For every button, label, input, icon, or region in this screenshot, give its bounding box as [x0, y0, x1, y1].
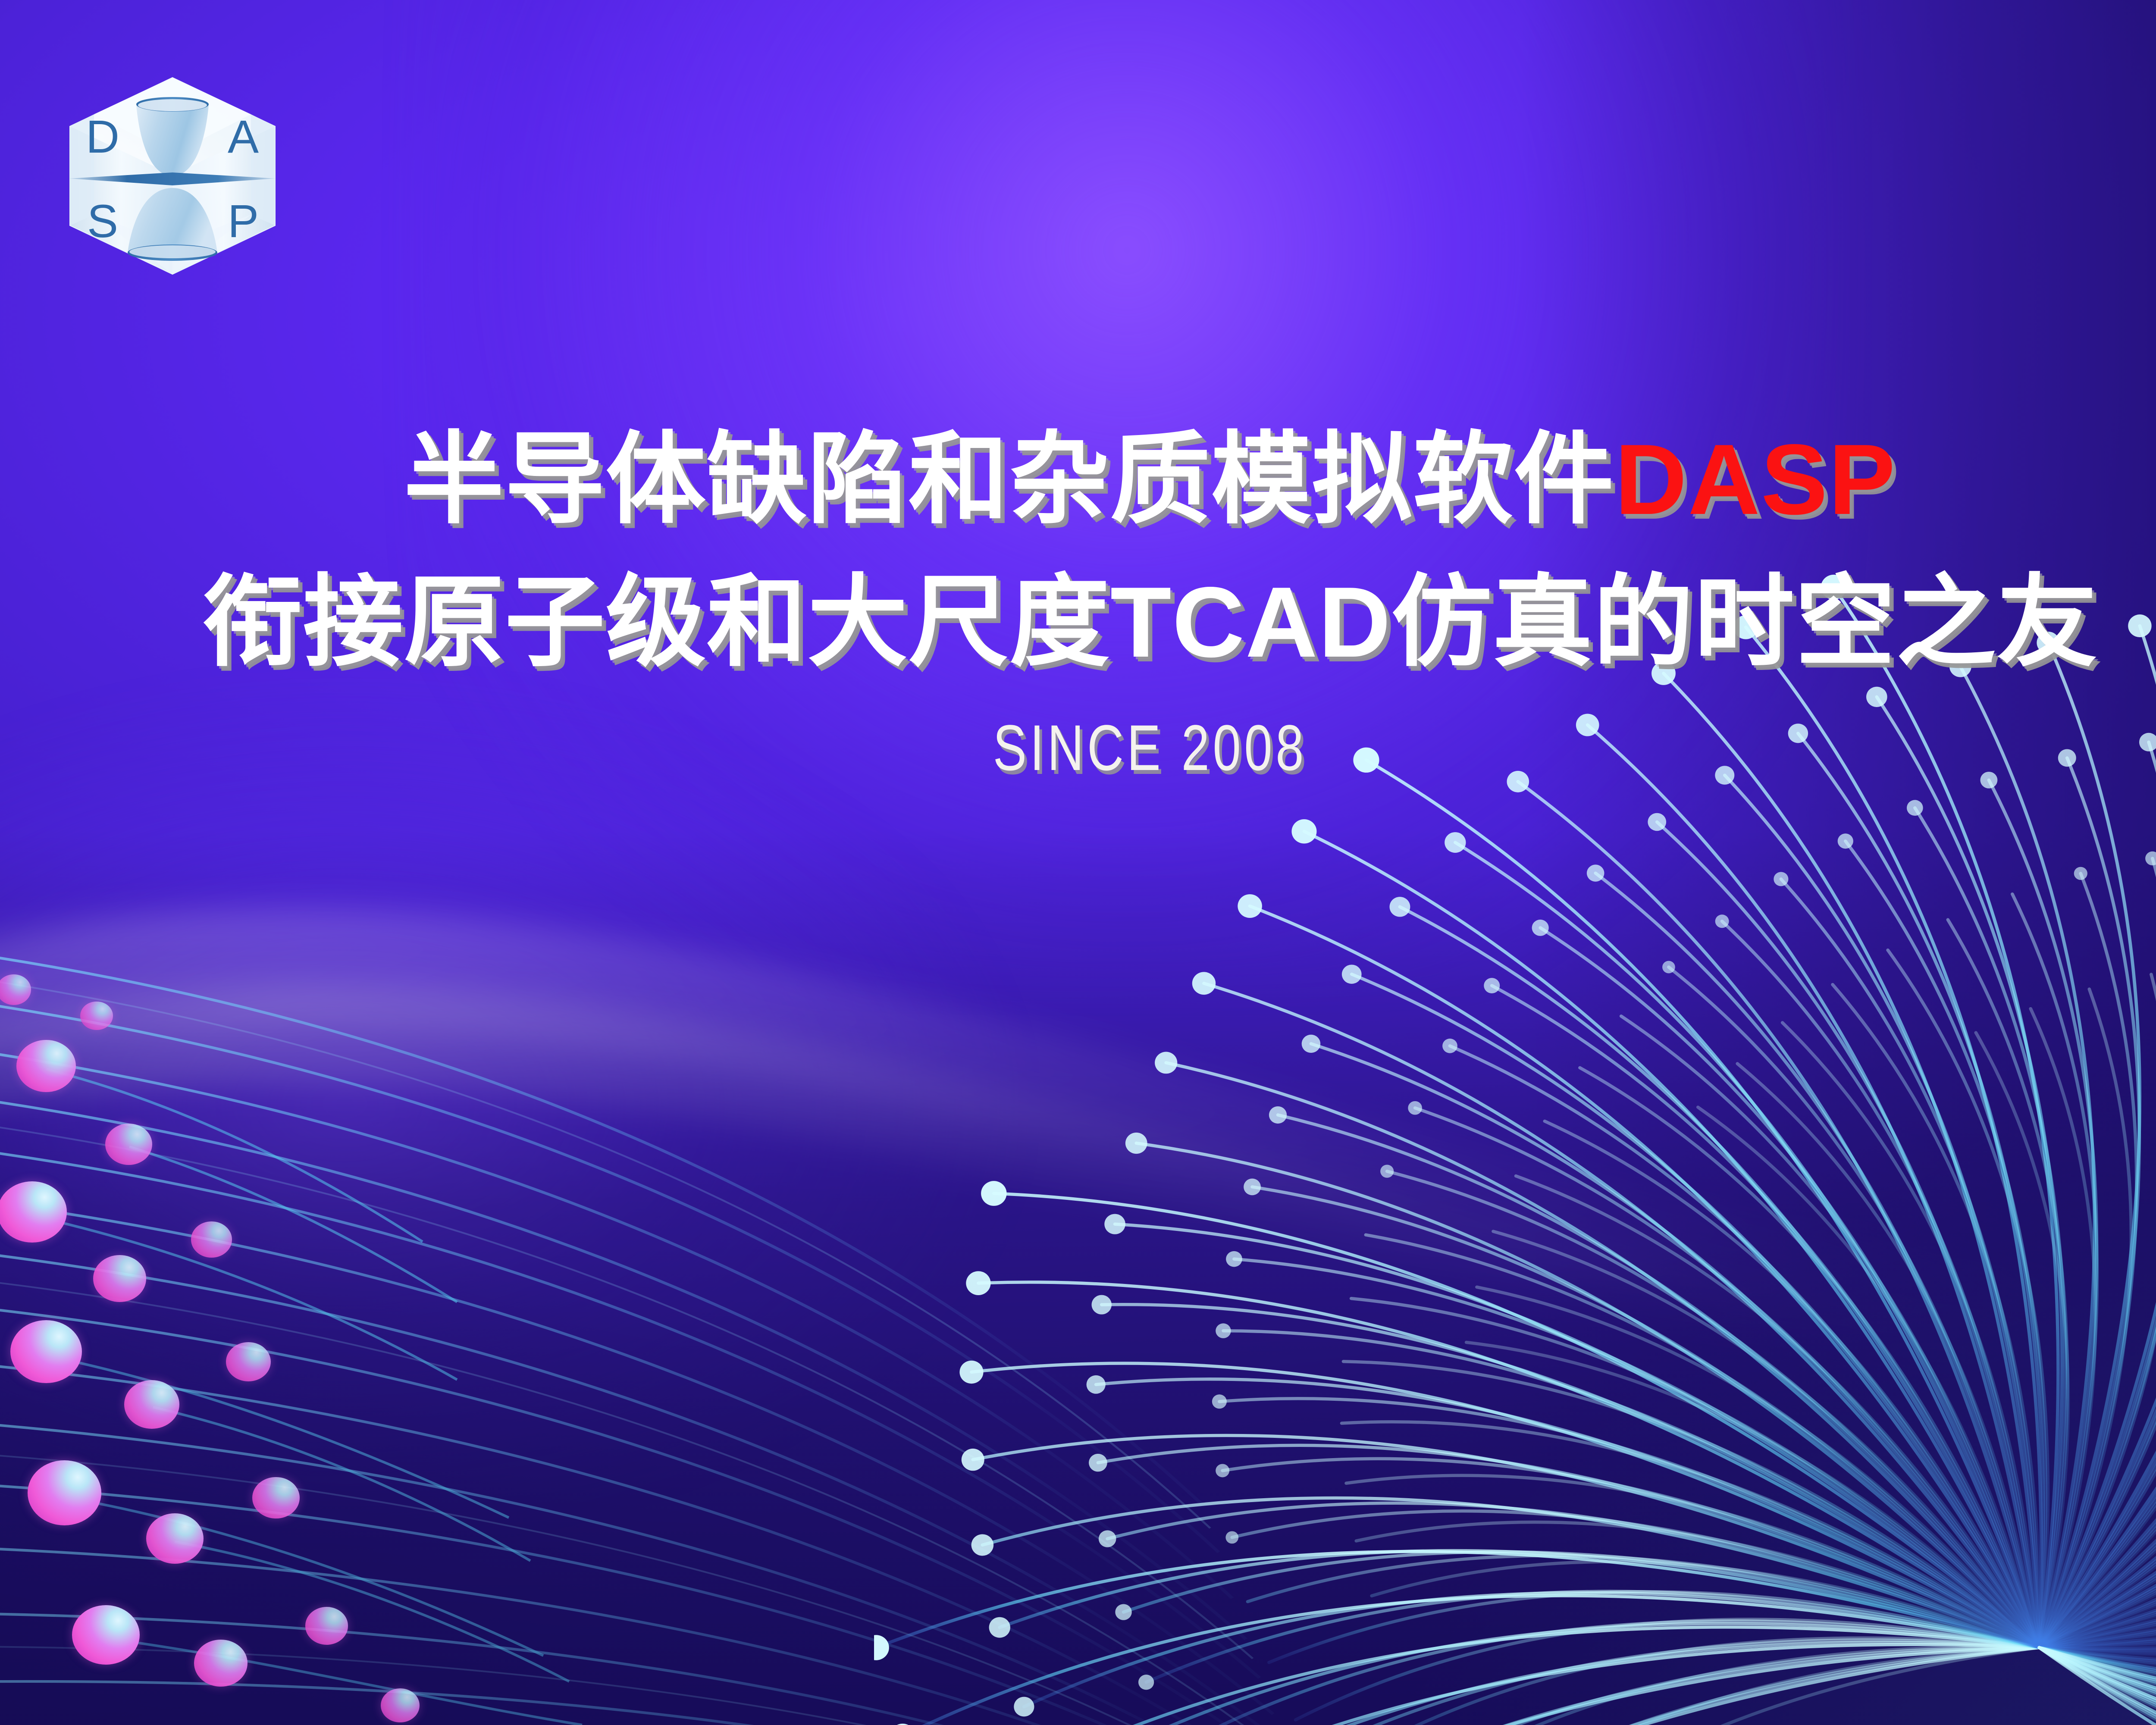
presentation-slide: D A S P 半导体缺陷和杂质模拟软件DASP 衔接原子级和大尺度TCAD仿真… [0, 0, 2156, 1725]
brand-name-dasp: DASP [1615, 424, 1896, 535]
node-dot [10, 1320, 82, 1383]
node-dot [194, 1640, 248, 1687]
node-dot [146, 1513, 204, 1564]
title-block: 半导体缺陷和杂质模拟软件DASP 衔接原子级和大尺度TCAD仿真的时空之友 SI… [0, 423, 2156, 785]
node-dot [93, 1255, 147, 1302]
main-title-chinese: 半导体缺陷和杂质模拟软件 [404, 424, 1615, 535]
node-dot [105, 1124, 152, 1165]
dasp-logo: D A S P [52, 72, 293, 279]
node-dot [381, 1688, 420, 1722]
node-dot [226, 1342, 271, 1382]
node-dot [16, 1040, 76, 1092]
main-title-line-2: 衔接原子级和大尺度TCAD仿真的时空之友 [0, 565, 2156, 680]
main-title-line-1: 半导体缺陷和杂质模拟软件DASP [0, 423, 2156, 538]
logo-letter-s: S [87, 195, 118, 247]
since-label: SINCE 2008 [253, 711, 2047, 785]
node-dot [80, 1002, 113, 1030]
logo-letter-a: A [228, 110, 259, 163]
node-dot [252, 1477, 299, 1518]
node-dot [28, 1460, 101, 1525]
node-dot [191, 1221, 232, 1258]
node-dot [72, 1605, 140, 1665]
logo-letter-d: D [86, 110, 119, 163]
logo-letter-p: P [228, 195, 259, 247]
node-dot [305, 1607, 348, 1645]
node-dot [124, 1380, 179, 1429]
